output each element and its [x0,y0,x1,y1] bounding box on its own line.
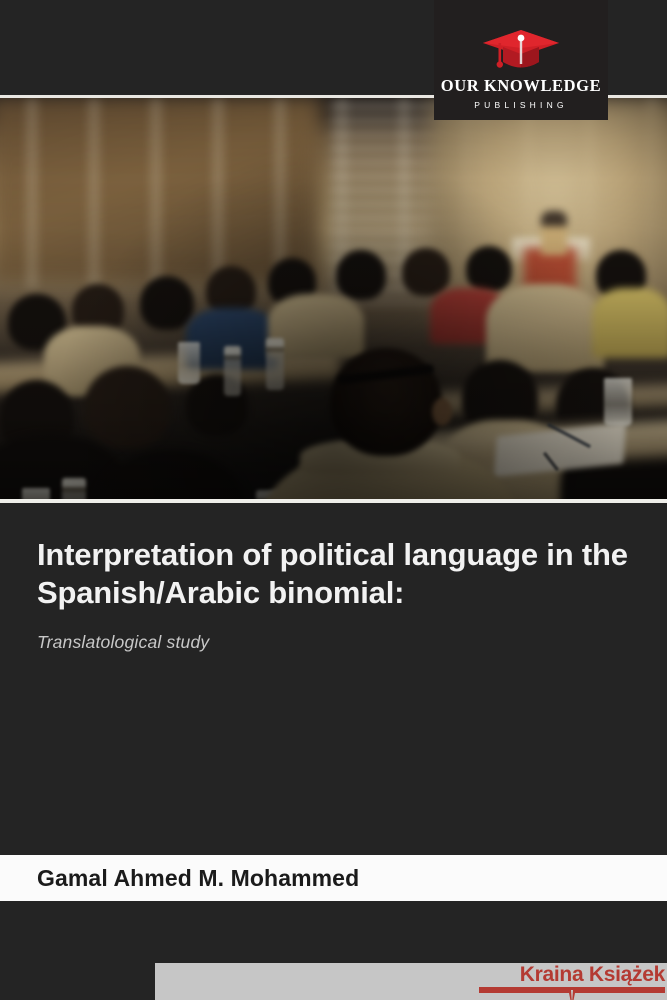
publisher-name: OUR KNOWLEDGE [441,76,601,96]
author-name: Gamal Ahmed M. Mohammed [37,865,359,892]
author-band: Gamal Ahmed M. Mohammed [0,855,667,901]
title-block: Interpretation of political language in … [37,536,637,653]
publisher-logo: OUR KNOWLEDGE PUBLISHING [434,0,608,120]
photo-color-grade [0,98,667,502]
publisher-tagline: PUBLISHING [474,100,568,110]
book-subtitle: Translatological study [37,632,637,653]
watermark-text: Kraina Książek [475,964,665,986]
open-book-icon [479,990,665,1000]
photo-bottom-rule [0,499,667,503]
book-title: Interpretation of political language in … [37,536,637,612]
watermark: Kraina Książek [475,964,665,1000]
book-cover: OUR KNOWLEDGE PUBLISHING Interpretation … [0,0,667,1000]
cover-photo [0,98,667,502]
graduation-cap-icon [481,26,561,74]
